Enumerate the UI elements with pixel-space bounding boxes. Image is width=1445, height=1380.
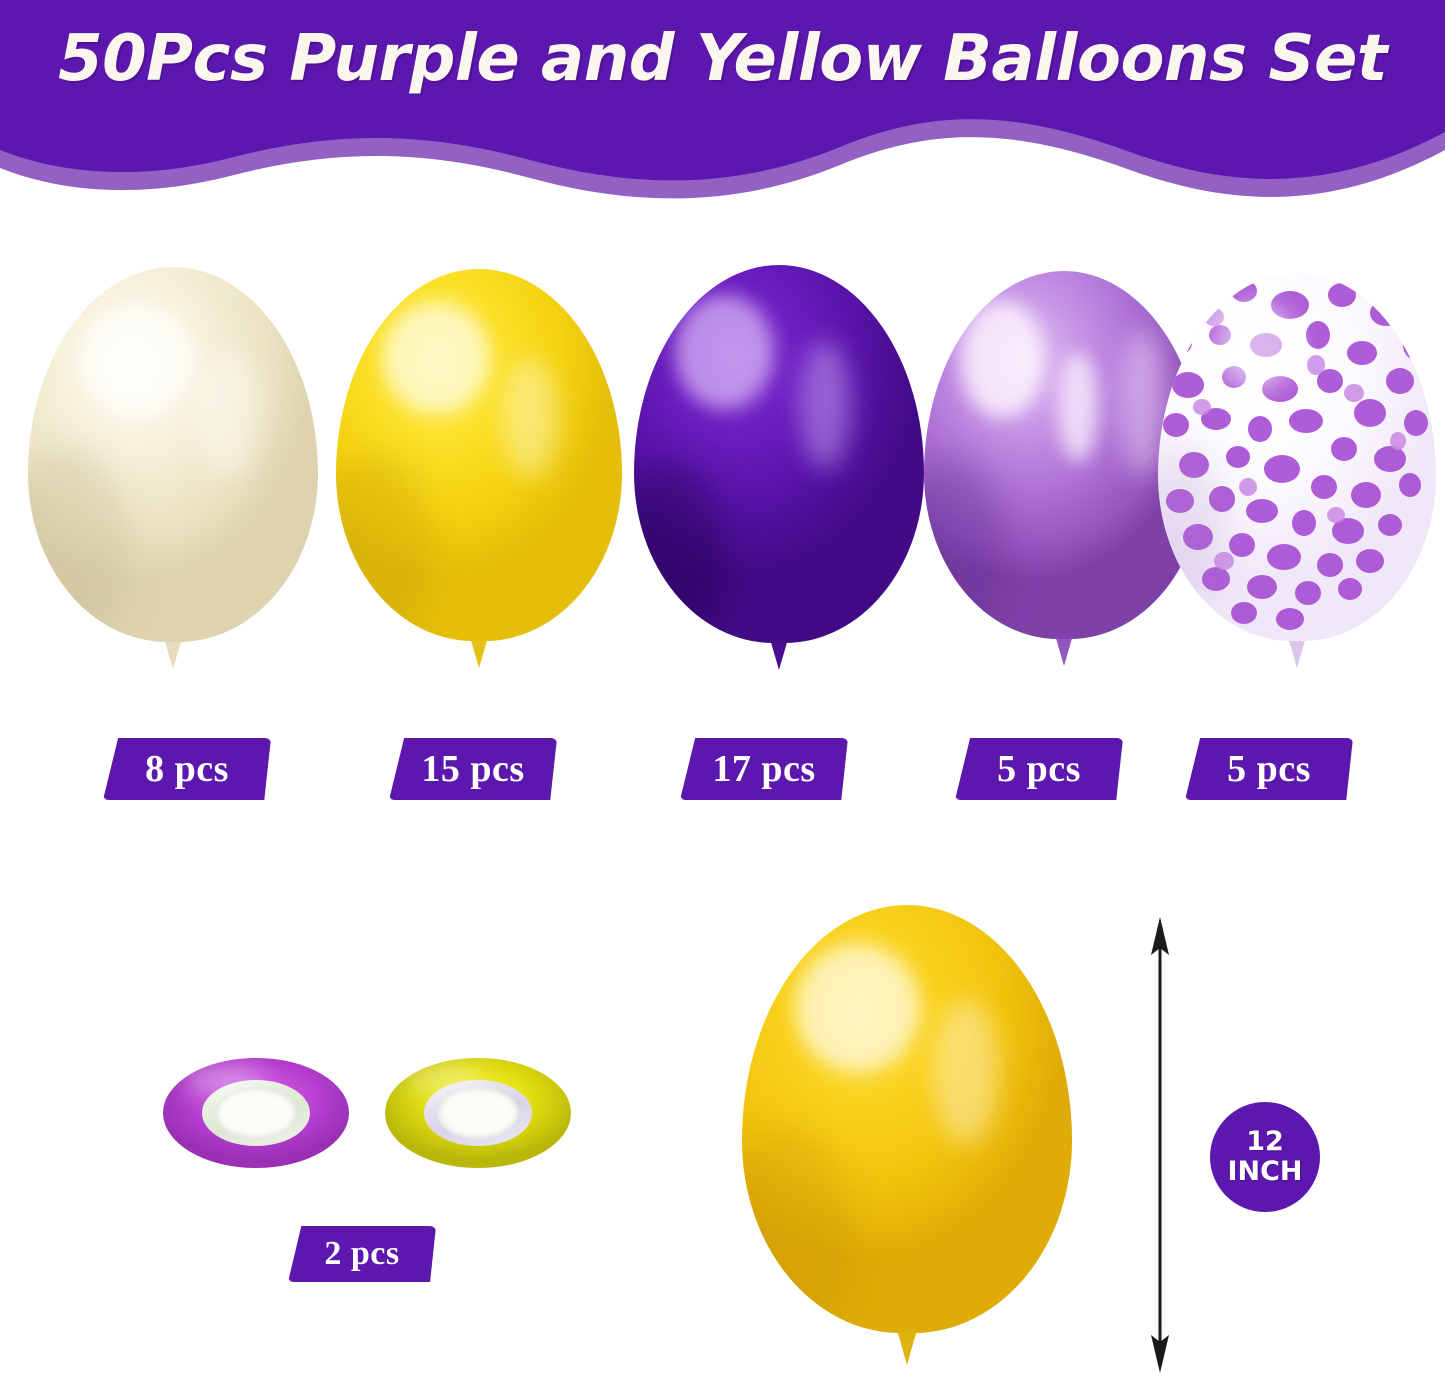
purple-ribbon-spool[interactable] — [163, 1058, 349, 1168]
page-title: 50Pcs Purple and Yellow Balloons Set — [0, 22, 1445, 96]
badge-ivory-qty: 8 pcs — [103, 738, 271, 800]
ivory-balloon[interactable] — [28, 267, 318, 642]
yellow-ribbon-spool[interactable] — [385, 1058, 571, 1168]
height-arrow-icon — [1130, 915, 1190, 1375]
badge-dark-purple-qty: 17 pcs — [680, 738, 848, 800]
dark-purple-balloon[interactable] — [634, 265, 924, 643]
product-infographic: 50Pcs Purple and Yellow Balloons Set — [0, 0, 1445, 1380]
size-badge: 12 INCH — [1210, 1102, 1320, 1212]
size-unit: INCH — [1227, 1157, 1302, 1187]
badge-confetti-qty: 5 pcs — [1185, 738, 1353, 800]
purple-confetti-balloon[interactable] — [1158, 273, 1436, 641]
size-value: 12 — [1246, 1127, 1284, 1157]
yellow-balloon[interactable] — [336, 269, 622, 641]
badge-ribbon-qty: 2 pcs — [288, 1226, 436, 1282]
badge-metallic-purple-qty: 5 pcs — [955, 738, 1123, 800]
badge-yellow-qty: 15 pcs — [389, 738, 557, 800]
balloon-lineup — [0, 255, 1445, 715]
header-banner: 50Pcs Purple and Yellow Balloons Set — [0, 0, 1445, 215]
large-yellow-balloon[interactable] — [742, 905, 1072, 1333]
